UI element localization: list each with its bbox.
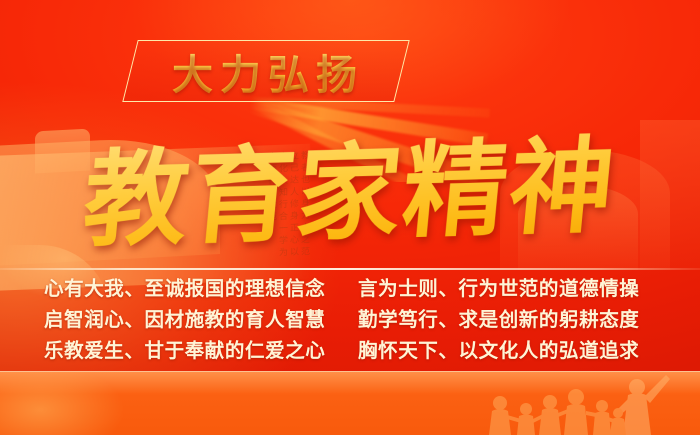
slogan-item: 启智润心、因材施教的育人智慧 <box>44 307 346 335</box>
band-left-glow-decoration <box>0 371 160 435</box>
children-holding-hands-icon <box>489 389 626 435</box>
slogan-item: 心有大我、至诚报国的理想信念 <box>44 276 346 304</box>
headline-badge-text: 大力弘扬 <box>152 44 384 98</box>
bottom-band <box>0 371 700 435</box>
section-divider <box>0 268 700 270</box>
people-silhouettes-group <box>390 371 700 435</box>
slogan-item: 乐教爱生、甘于奉献的仁爱之心 <box>44 338 346 366</box>
slogan-item: 言为士则、行为世范的道德情操 <box>358 276 660 304</box>
page-title: 教育家精神 <box>0 118 700 267</box>
slogan-grid: 心有大我、至诚报国的理想信念 言为士则、行为世范的道德情操 启智润心、因材施教的… <box>44 276 660 366</box>
poster-banner: 教者也以身为人之范立己达人修身正心以文化人知行合一学为人师行为世范 大力弘扬 教… <box>0 0 700 435</box>
slogan-item: 胸怀天下、以文化人的弘道追求 <box>358 338 660 366</box>
slogan-item: 勤学笃行、求是创新的躬耕态度 <box>358 307 660 335</box>
